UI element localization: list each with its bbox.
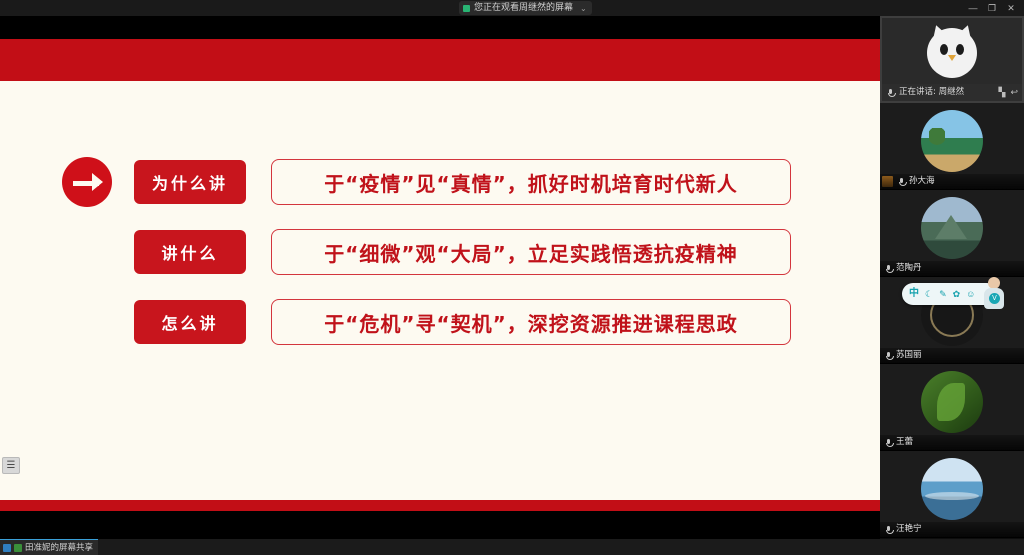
participant-tile[interactable]: 正在讲话: 周继然 ▚ ↩ <box>880 16 1024 103</box>
presentation-slide: 为什么讲 于“疫情”见“真情”，抓好时机培育时代新人 讲什么 于“细微”观“大局… <box>0 39 880 511</box>
slide-row: 怎么讲 于“危机”寻“契机”，深挖资源推进课程思政 <box>62 299 822 345</box>
owl-avatar-icon <box>927 28 977 78</box>
participant-name: 汪艳宁 <box>896 522 922 537</box>
share-status-dot <box>463 5 470 12</box>
slide-menu-icon[interactable]: ☰ <box>2 457 20 474</box>
slide-row-tag: 为什么讲 <box>134 160 246 204</box>
participant-namebar: 王蕾 <box>880 435 1024 450</box>
slide-row-statement: 于“危机”寻“契机”，深挖资源推进课程思政 <box>271 299 791 345</box>
ime-language-label[interactable]: 中 <box>909 283 919 305</box>
participant-tile[interactable]: 王蕾 <box>880 364 1024 451</box>
slide-row-tag: 讲什么 <box>134 230 246 274</box>
chevron-down-icon[interactable]: ⌄ <box>580 4 587 13</box>
tile-actions: ▚ ↩ <box>999 84 1018 101</box>
gear-icon[interactable]: ✿ <box>953 283 961 305</box>
slide-row: 讲什么 于“细微”观“大局”，立足实践悟透抗疫精神 <box>62 229 822 275</box>
pen-icon[interactable]: ✎ <box>939 283 947 305</box>
mic-muted-icon <box>884 438 893 447</box>
ime-floating-toolbar[interactable]: 中 ☾ ✎ ✿ ☺ V <box>902 283 998 305</box>
participant-namebar: 苏国丽 <box>880 348 1024 363</box>
participant-tile[interactable]: 范陶丹 <box>880 190 1024 277</box>
slide-row-tag: 怎么讲 <box>134 300 246 344</box>
mic-muted-icon <box>884 351 893 360</box>
slide-rows: 为什么讲 于“疫情”见“真情”，抓好时机培育时代新人 讲什么 于“细微”观“大局… <box>62 159 822 369</box>
window-titlebar: 您正在观看周继然的屏幕 ⌄ — ❐ ✕ <box>0 0 1024 16</box>
participant-video-strip: 正在讲话: 周继然 ▚ ↩ 孙大海 范陶丹 <box>880 16 1024 539</box>
slide-bottom-band <box>0 500 880 511</box>
screen-share-notice[interactable]: 您正在观看周继然的屏幕 ⌄ <box>459 1 592 15</box>
participant-namebar: 范陶丹 <box>880 261 1024 276</box>
screenshare-status-icon <box>14 544 22 552</box>
ime-avatar-badge: V <box>989 293 1000 304</box>
moon-icon[interactable]: ☾ <box>925 283 933 305</box>
slide-row: 为什么讲 于“疫情”见“真情”，抓好时机培育时代新人 <box>62 159 822 205</box>
emoji-icon[interactable]: ☺ <box>966 283 975 305</box>
taskbar-item[interactable]: 田准妮的屏幕共享 <box>0 539 98 555</box>
participant-tile[interactable]: 孙大海 <box>880 103 1024 190</box>
mic-muted-icon <box>884 264 893 273</box>
screenshare-icon <box>3 544 11 552</box>
slide-top-band <box>0 39 880 81</box>
participant-name: 王蕾 <box>896 435 913 450</box>
mic-icon <box>886 88 895 97</box>
close-button[interactable]: ✕ <box>1006 0 1016 16</box>
participant-name: 正在讲话: 周继然 <box>899 84 964 101</box>
participant-tile[interactable]: 汪艳宁 <box>880 451 1024 538</box>
participant-name: 孙大海 <box>909 174 935 189</box>
share-notice-label: 您正在观看周继然的屏幕 <box>474 1 573 15</box>
zoom-meeting-window: 您正在观看周继然的屏幕 ⌄ — ❐ ✕ 为什么讲 于“疫情”见“真情”，抓好时机… <box>0 0 1024 555</box>
signal-icon[interactable]: ▚ <box>999 84 1006 101</box>
mic-muted-icon <box>884 525 893 534</box>
mic-muted-icon <box>897 177 906 186</box>
arrow-right-circle-icon <box>62 157 112 207</box>
window-controls: — ❐ ✕ <box>968 0 1022 16</box>
taskbar-item-label: 田准妮的屏幕共享 <box>25 540 93 555</box>
minimize-button[interactable]: — <box>968 0 978 16</box>
participant-namebar: 汪艳宁 <box>880 522 1024 537</box>
participant-name: 苏国丽 <box>896 348 922 363</box>
unmute-icon[interactable]: ↩ <box>1010 84 1018 101</box>
slide-row-statement: 于“细微”观“大局”，立足实践悟透抗疫精神 <box>271 229 791 275</box>
participant-tile[interactable]: 中 ☾ ✎ ✿ ☺ V 苏国丽 <box>880 277 1024 364</box>
slide-row-statement: 于“疫情”见“真情”，抓好时机培育时代新人 <box>271 159 791 205</box>
participant-name: 范陶丹 <box>896 261 922 276</box>
maximize-button[interactable]: ❐ <box>987 0 997 16</box>
participant-namebar: 孙大海 <box>880 174 1024 189</box>
windows-taskbar: 田准妮的屏幕共享 <box>0 539 1024 555</box>
ime-avatar-icon[interactable]: V <box>981 277 1007 311</box>
active-speaker-bar: 正在讲话: 周继然 ▚ ↩ <box>882 84 1022 101</box>
shared-screen-stage[interactable]: 为什么讲 于“疫情”见“真情”，抓好时机培育时代新人 讲什么 于“细微”观“大局… <box>0 16 880 539</box>
